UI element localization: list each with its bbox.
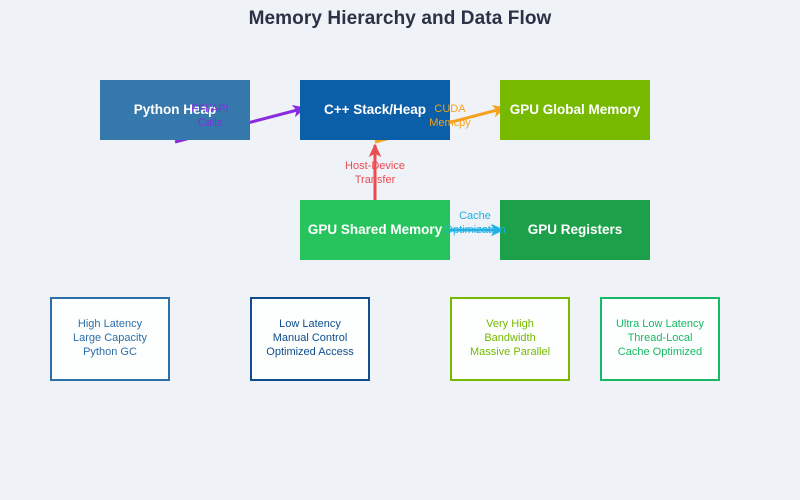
node-gpu-shared-memory[interactable]: GPU Shared Memory <box>300 200 450 260</box>
node-gpu-global-memory[interactable]: GPU Global Memory <box>500 80 650 140</box>
node-python-heap[interactable]: Python Heap <box>100 80 250 140</box>
infobox-text: High Latency Large Capacity Python GC <box>73 318 147 360</box>
node-label: Python Heap <box>134 103 217 118</box>
node-label: GPU Global Memory <box>510 103 641 118</box>
infobox-gpu-global-memory-info: Very High Bandwidth Massive Parallel <box>450 297 570 381</box>
node-label: GPU Registers <box>528 223 623 238</box>
node-gpu-registers[interactable]: GPU Registers <box>500 200 650 260</box>
node-cpp-stack-heap[interactable]: C++ Stack/Heap <box>300 80 450 140</box>
node-label: GPU Shared Memory <box>308 223 442 238</box>
node-label: C++ Stack/Heap <box>324 103 426 118</box>
infobox-text: Ultra Low Latency Thread-Local Cache Opt… <box>616 318 704 360</box>
infobox-cpp-stack-heap-info: Low Latency Manual Control Optimized Acc… <box>250 297 370 381</box>
infobox-text: Low Latency Manual Control Optimized Acc… <box>266 318 353 360</box>
diagram-canvas: Memory Hierarchy and Data Flow Python He… <box>0 0 800 500</box>
infobox-gpu-registers-info: Ultra Low Latency Thread-Local Cache Opt… <box>600 297 720 381</box>
infobox-python-heap-info: High Latency Large Capacity Python GC <box>50 297 170 381</box>
infobox-text: Very High Bandwidth Massive Parallel <box>470 318 550 360</box>
